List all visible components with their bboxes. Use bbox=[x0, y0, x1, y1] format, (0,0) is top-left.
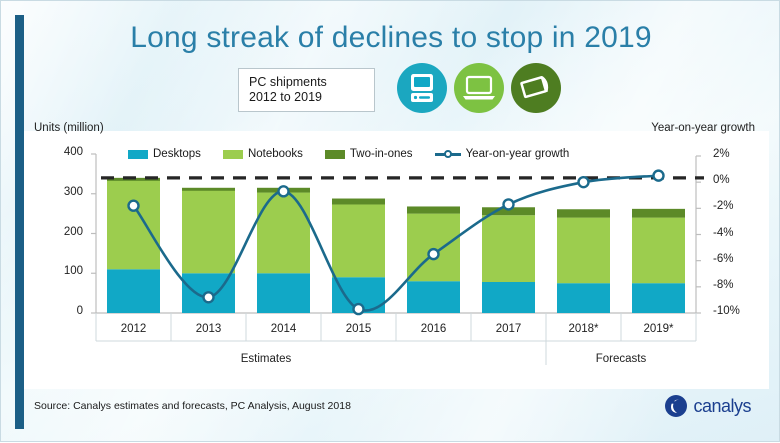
x-tick-2016: 2016 bbox=[397, 323, 471, 335]
x-tick-2013: 2013 bbox=[172, 323, 246, 335]
y-tick-0: 0 bbox=[43, 305, 83, 317]
canalys-mark bbox=[664, 394, 688, 418]
legend-swatch-growth bbox=[435, 149, 461, 159]
y2-tick--4: -4% bbox=[713, 227, 755, 239]
y2-tick--2: -2% bbox=[713, 200, 755, 212]
two-in-one-icon bbox=[511, 63, 561, 113]
callout-box: PC shipments 2012 to 2019 bbox=[238, 68, 375, 112]
group-label-estimates: Estimates bbox=[96, 353, 436, 365]
legend-item-two-in-ones: Two-in-ones bbox=[325, 148, 413, 160]
legend-label-desktops: Desktops bbox=[153, 148, 201, 160]
chart-background bbox=[24, 131, 769, 389]
legend-label-two-in-ones: Two-in-ones bbox=[350, 148, 413, 160]
x-tick-2012: 2012 bbox=[97, 323, 171, 335]
legend-swatch-desktops bbox=[128, 150, 148, 159]
legend-label-growth: Year-on-year growth bbox=[466, 148, 570, 160]
slide-frame: Long streak of declines to stop in 2019 … bbox=[0, 0, 780, 442]
desktop-icon bbox=[397, 63, 447, 113]
accent-bar bbox=[15, 15, 24, 429]
canalys-logo: canalys bbox=[664, 393, 751, 419]
y2-tick--8: -8% bbox=[713, 279, 755, 291]
y2-tick-2: 2% bbox=[713, 148, 755, 160]
callout-line-1: PC shipments bbox=[249, 75, 374, 90]
x-tick-2018: 2018* bbox=[547, 323, 621, 335]
y-tick-400: 400 bbox=[43, 146, 83, 158]
x-tick-2019: 2019* bbox=[622, 323, 696, 335]
legend-swatch-two-in-ones bbox=[325, 150, 345, 159]
left-axis-title: Units (million) bbox=[34, 122, 104, 134]
device-icon-row bbox=[397, 63, 577, 115]
y2-tick-0: 0% bbox=[713, 174, 755, 186]
legend-item-growth: Year-on-year growth bbox=[435, 148, 570, 160]
notebook-icon bbox=[454, 63, 504, 113]
source-note: Source: Canalys estimates and forecasts,… bbox=[34, 400, 351, 412]
legend-item-notebooks: Notebooks bbox=[223, 148, 303, 160]
y-tick-300: 300 bbox=[43, 186, 83, 198]
x-tick-2014: 2014 bbox=[247, 323, 321, 335]
y-tick-200: 200 bbox=[43, 226, 83, 238]
legend-label-notebooks: Notebooks bbox=[248, 148, 303, 160]
y2-tick--6: -6% bbox=[713, 253, 755, 265]
callout-line-2: 2012 to 2019 bbox=[249, 90, 374, 105]
y2-tick--10: -10% bbox=[713, 305, 755, 317]
legend-swatch-notebooks bbox=[223, 150, 243, 159]
x-tick-2015: 2015 bbox=[322, 323, 396, 335]
canalys-wordmark: canalys bbox=[693, 396, 751, 417]
y-tick-100: 100 bbox=[43, 265, 83, 277]
x-tick-2017: 2017 bbox=[472, 323, 546, 335]
chart-legend: Desktops Notebooks Two-in-ones Year-on-y… bbox=[128, 146, 569, 162]
right-axis-title: Year-on-year growth bbox=[651, 122, 755, 134]
page-title: Long streak of declines to stop in 2019 bbox=[1, 21, 780, 55]
group-label-forecasts: Forecasts bbox=[546, 353, 696, 365]
legend-item-desktops: Desktops bbox=[128, 148, 201, 160]
